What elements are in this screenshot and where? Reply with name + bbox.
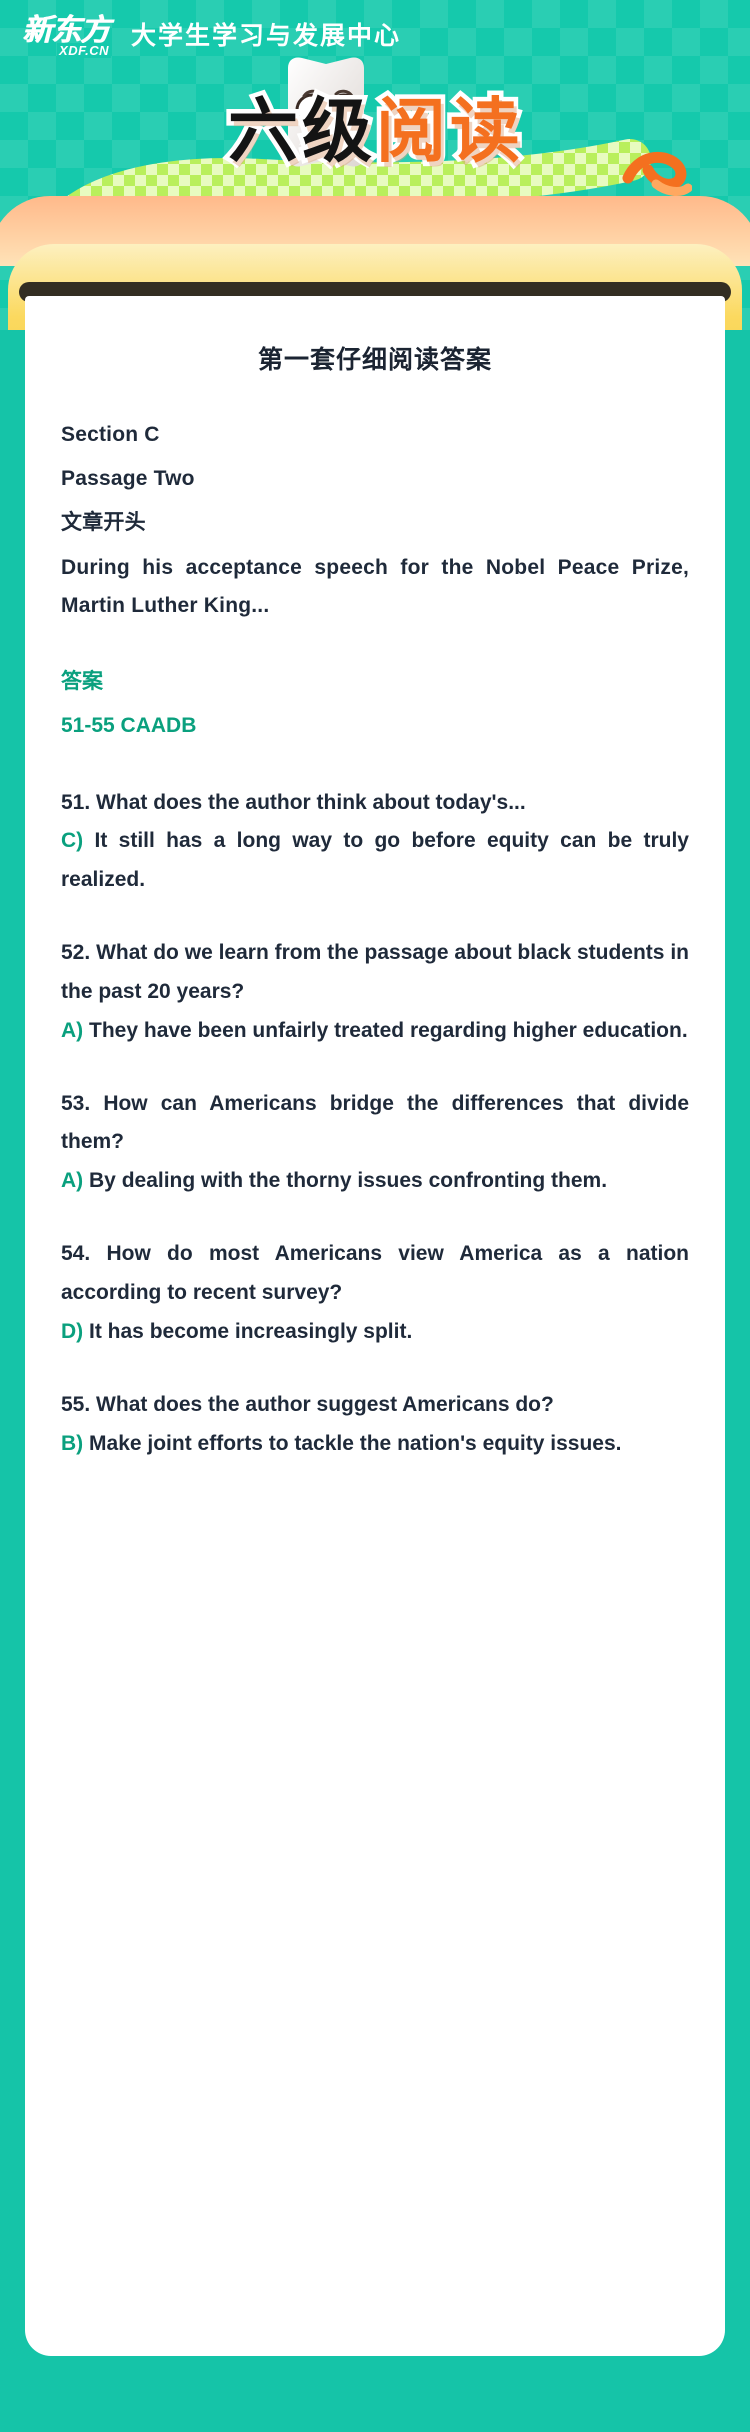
question-text-53: 53. How can Americans bridge the differe… — [61, 1085, 689, 1163]
question-body-54: How do most Americans view America as a … — [61, 1242, 689, 1304]
brand-title: 大学生学习与发展中心 — [131, 16, 401, 52]
question-text-55: 55. What does the author suggest America… — [61, 1386, 689, 1425]
answer-body-51: It still has a long way to go before equ… — [61, 829, 689, 891]
question-item: 55. What does the author suggest America… — [61, 1386, 689, 1464]
answer-key: 51-55 CAADB — [61, 707, 689, 745]
answer-body-52: They have been unfairly treated regardin… — [89, 1019, 688, 1042]
question-text-52: 52. What do we learn from the passage ab… — [61, 934, 689, 1012]
answer-letter-55: B) — [61, 1432, 83, 1455]
question-body-52: What do we learn from the passage about … — [61, 941, 689, 1003]
answer-text-52: A) They have been unfairly treated regar… — [61, 1012, 689, 1051]
answer-text-51: C) It still has a long way to go before … — [61, 822, 689, 900]
pencil-deco-icon — [622, 148, 692, 202]
question-number-53: 53. — [61, 1092, 90, 1115]
question-number-51: 51. — [61, 791, 90, 814]
content-card: 第一套仔细阅读答案 Section C Passage Two 文章开头 Dur… — [25, 296, 725, 2356]
question-number-54: 54. — [61, 1242, 90, 1265]
answer-body-54: It has become increasingly split. — [89, 1320, 412, 1343]
question-text-51: 51. What does the author think about tod… — [61, 784, 689, 823]
answer-text-53: A) By dealing with the thorny issues con… — [61, 1162, 689, 1201]
answer-text-54: D) It has become increasingly split. — [61, 1313, 689, 1352]
content-card-wrapper: 第一套仔细阅读答案 Section C Passage Two 文章开头 Dur… — [25, 296, 725, 2356]
question-body-51: What does the author think about today's… — [96, 791, 526, 814]
answer-body-53: By dealing with the thorny issues confro… — [89, 1169, 607, 1192]
question-item: 51. What does the author think about tod… — [61, 784, 689, 901]
excerpt-label: 文章开头 — [61, 504, 689, 542]
question-item: 53. How can Americans bridge the differe… — [61, 1085, 689, 1202]
passage-label: Passage Two — [61, 460, 689, 498]
title-char-1: 六 — [228, 96, 300, 166]
answer-letter-53: A) — [61, 1169, 83, 1192]
question-body-55: What does the author suggest Americans d… — [96, 1393, 554, 1416]
answer-text-55: B) Make joint efforts to tackle the nati… — [61, 1425, 689, 1464]
title-char-4: 读 — [450, 96, 522, 166]
section-label: Section C — [61, 416, 689, 454]
logo-chinese-text: 新东方 — [22, 16, 109, 46]
answer-label: 答案 — [61, 663, 689, 701]
excerpt-text: During his acceptance speech for the Nob… — [61, 549, 689, 625]
brand-bar: 新东方 XDF.CN 大学生学习与发展中心 — [18, 14, 401, 54]
question-number-55: 55. — [61, 1393, 90, 1416]
answer-letter-51: C) — [61, 829, 83, 852]
xdf-logo: 新东方 XDF.CN — [18, 14, 113, 54]
question-number-52: 52. — [61, 941, 90, 964]
answer-letter-54: D) — [61, 1320, 83, 1343]
question-text-54: 54. How do most Americans view America a… — [61, 1235, 689, 1313]
hero-banner: 新东方 XDF.CN 大学生学习与发展中心 — [0, 0, 750, 330]
logo-english-text: XDF.CN — [57, 43, 111, 58]
question-item: 54. How do most Americans view America a… — [61, 1235, 689, 1352]
question-body-53: How can Americans bridge the differences… — [61, 1092, 689, 1154]
answer-body-55: Make joint efforts to tackle the nation'… — [89, 1432, 621, 1455]
question-item: 52. What do we learn from the passage ab… — [61, 934, 689, 1051]
title-char-3: 阅 — [376, 96, 448, 166]
answer-letter-52: A) — [61, 1019, 83, 1042]
title-char-2: 级 — [302, 96, 374, 166]
document-title: 第一套仔细阅读答案 — [61, 340, 689, 376]
